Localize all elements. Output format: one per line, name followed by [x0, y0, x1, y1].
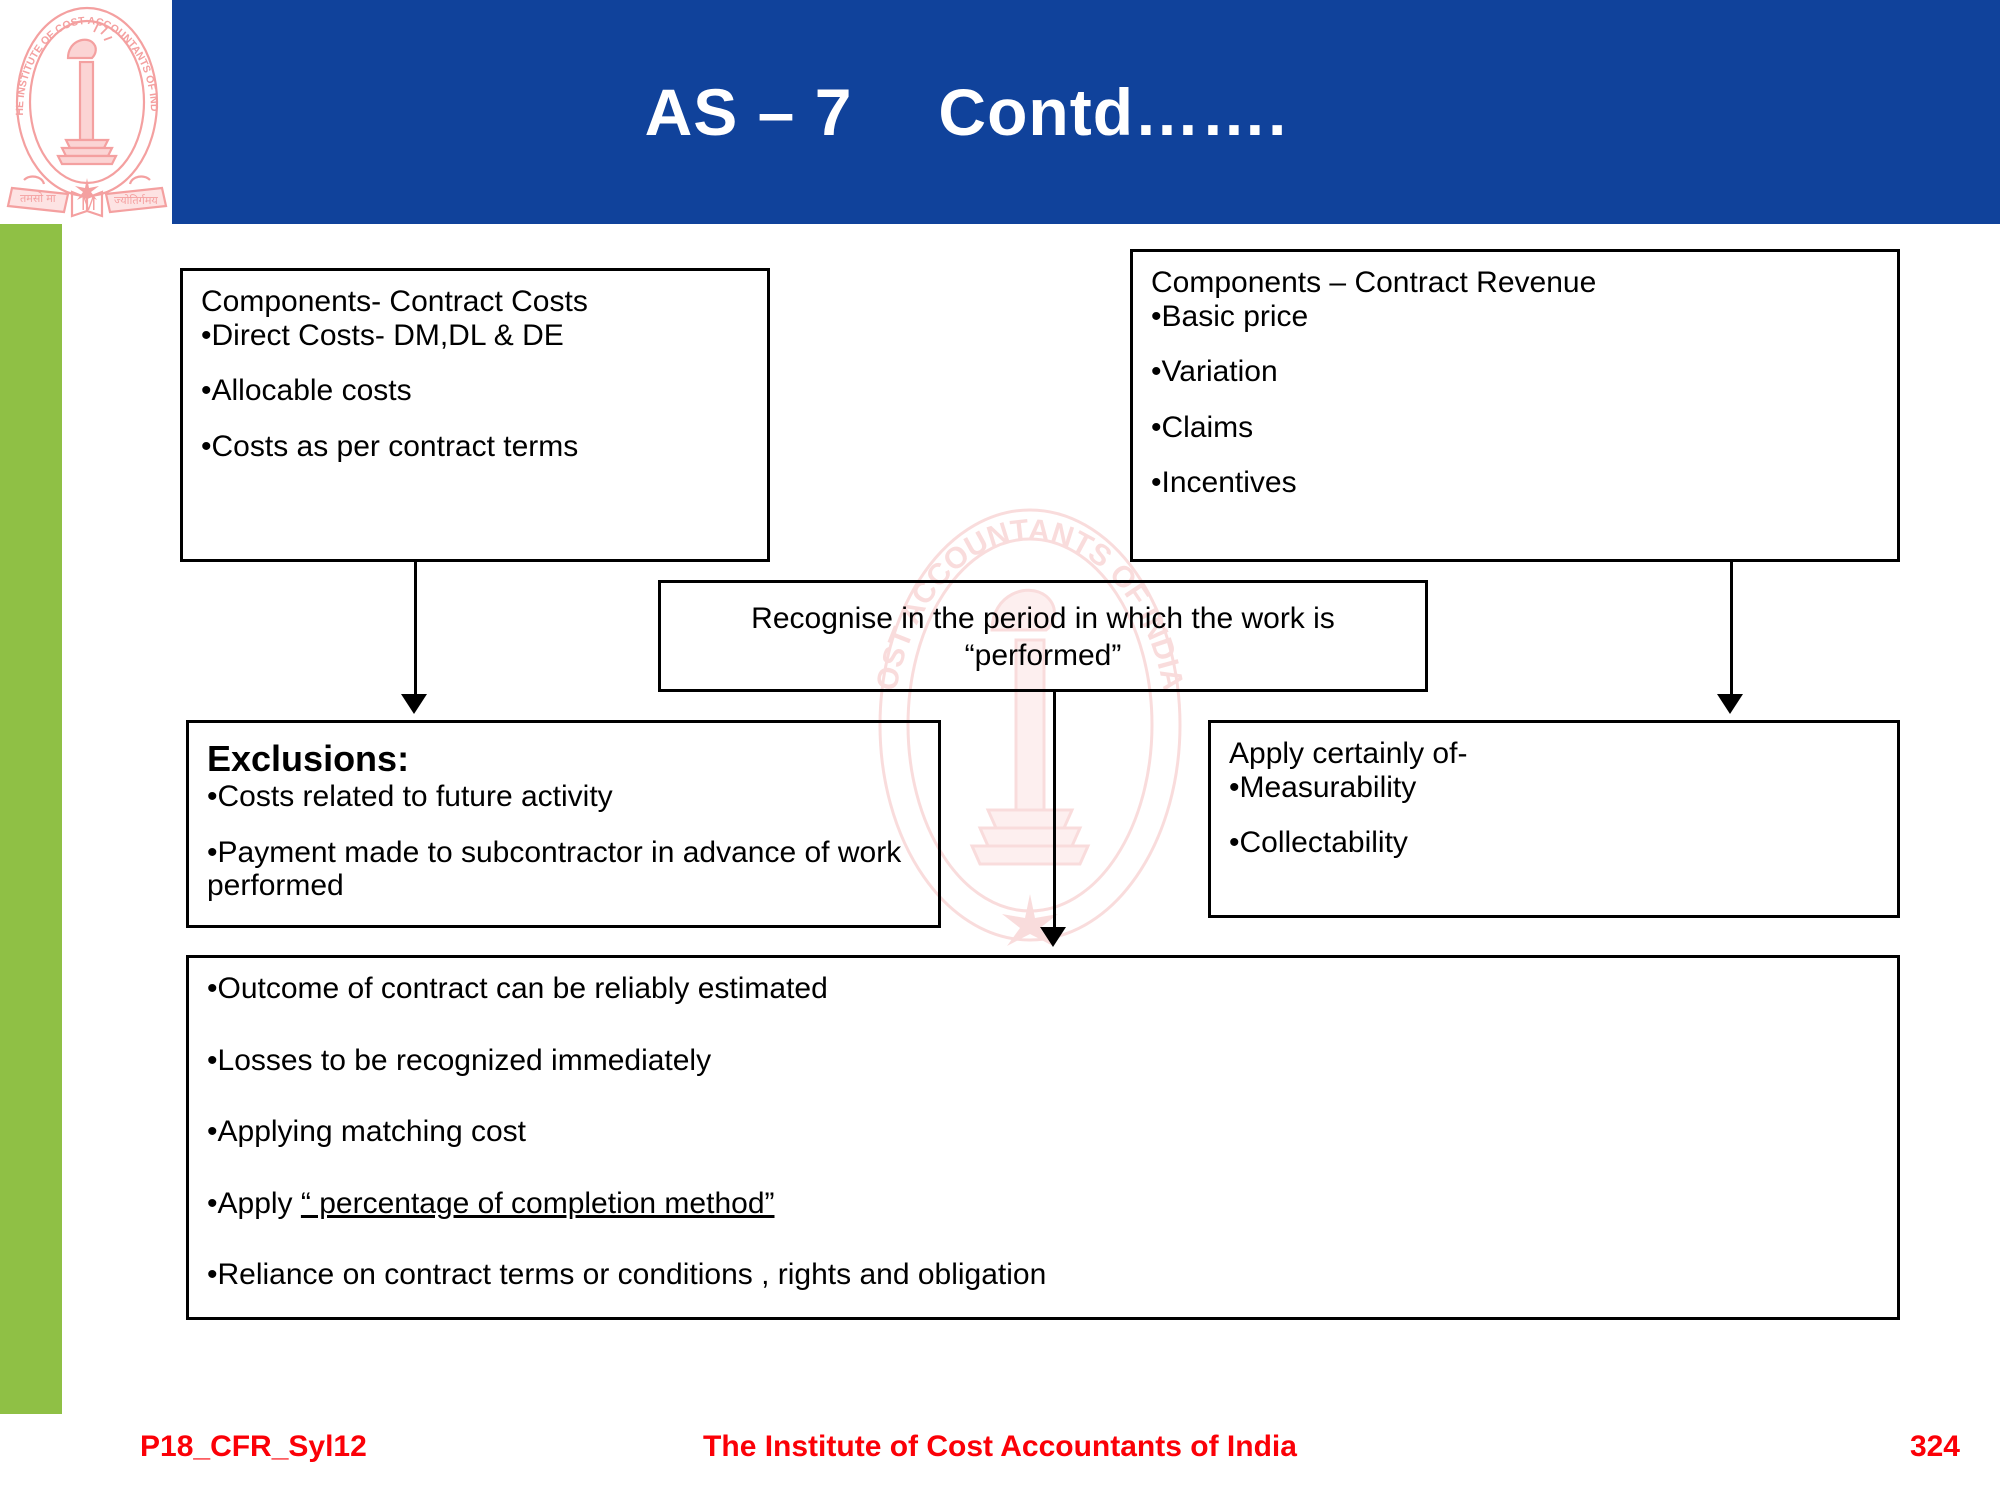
page-title-suffix: Contd…….	[938, 74, 1287, 150]
spacer	[207, 1077, 1879, 1115]
apply-certainly-item-1: •Collectability	[1229, 826, 1879, 860]
spacer	[201, 408, 749, 430]
institute-logo-icon: . तमसो मा ज्योतिर्गमय M THE INSTITUTE OF…	[6, 2, 168, 220]
logo-area: . तमसो मा ज्योतिर्गमय M THE INSTITUTE OF…	[0, 0, 172, 224]
contract-revenue-item-3: •Incentives	[1151, 466, 1879, 500]
spacer	[207, 814, 920, 836]
spacer	[207, 1149, 1879, 1187]
page-title: AS – 7 Contd…….	[172, 0, 2000, 224]
spacer	[201, 352, 749, 374]
outcome-item-0: •Outcome of contract can be reliably est…	[207, 972, 1879, 1006]
recognise-line-1: Recognise in the period in which the wor…	[681, 601, 1405, 638]
footer-institute-name: The Institute of Cost Accountants of Ind…	[0, 1430, 2000, 1464]
box-outcome-conditions: •Outcome of contract can be reliably est…	[186, 955, 1900, 1320]
exclusions-item-1: •Payment made to subcontractor in advanc…	[207, 836, 920, 903]
box-recognise-period: Recognise in the period in which the wor…	[658, 580, 1428, 692]
contract-revenue-item-0: •Basic price	[1151, 300, 1879, 334]
spacer	[207, 1220, 1879, 1258]
contract-revenue-heading: Components – Contract Revenue	[1151, 266, 1879, 300]
svg-text:M: M	[81, 194, 96, 214]
header-band: AS – 7 Contd…….	[172, 0, 2000, 224]
contract-revenue-item-2: •Claims	[1151, 411, 1879, 445]
outcome-item-1: •Losses to be recognized immediately	[207, 1044, 1879, 1078]
page-title-main: AS – 7	[645, 74, 853, 150]
outcome-item-2: •Applying matching cost	[207, 1115, 1879, 1149]
outcome-item-3: •Reliance on contract terms or condition…	[207, 1258, 1879, 1292]
footer: P18_CFR_Syl12 The Institute of Cost Acco…	[0, 1414, 2000, 1500]
contract-revenue-item-1: •Variation	[1151, 355, 1879, 389]
apply-certainly-item-0: •Measurability	[1229, 771, 1879, 805]
outcome-item-apply: •Apply “ percentage of completion method…	[207, 1187, 1879, 1221]
contract-costs-item-1: •Allocable costs	[201, 374, 749, 408]
svg-text:ज्योतिर्गमय: ज्योतिर्गमय	[114, 194, 158, 207]
recognise-line-2: “performed”	[681, 638, 1405, 675]
exclusions-item-0: •Costs related to future activity	[207, 780, 920, 814]
box-apply-certainly-content: Apply certainly of- •Measurability •Coll…	[1211, 723, 1897, 870]
contract-costs-item-2: •Costs as per contract terms	[201, 430, 749, 464]
apply-certainly-heading: Apply certainly of-	[1229, 737, 1879, 771]
box-contract-costs-content: Components- Contract Costs •Direct Costs…	[183, 271, 767, 473]
box-contract-revenue-content: Components – Contract Revenue •Basic pri…	[1133, 252, 1897, 510]
spacer	[1151, 333, 1879, 355]
box-recognise-content: Recognise in the period in which the wor…	[661, 583, 1425, 692]
box-exclusions-content: Exclusions: •Costs related to future act…	[189, 723, 938, 913]
outcome-apply-quoted: “ percentage of completion method”	[301, 1187, 775, 1220]
box-outcome-content: •Outcome of contract can be reliably est…	[189, 958, 1897, 1302]
spacer	[1151, 389, 1879, 411]
box-apply-certainly: Apply certainly of- •Measurability •Coll…	[1208, 720, 1900, 918]
exclusions-heading: Exclusions:	[207, 737, 920, 780]
spacer	[1151, 444, 1879, 466]
left-accent-bar	[0, 224, 62, 1414]
footer-page-number: 324	[1910, 1430, 1960, 1464]
box-contract-revenue: Components – Contract Revenue •Basic pri…	[1130, 249, 1900, 562]
contract-costs-heading: Components- Contract Costs	[201, 285, 749, 319]
svg-text:तमसो मा: तमसो मा	[20, 192, 56, 205]
contract-costs-item-0: •Direct Costs- DM,DL & DE	[201, 319, 749, 353]
outcome-apply-prefix: •Apply	[207, 1187, 301, 1220]
box-contract-costs: Components- Contract Costs •Direct Costs…	[180, 268, 770, 562]
box-exclusions: Exclusions: •Costs related to future act…	[186, 720, 941, 928]
spacer	[207, 1006, 1879, 1044]
spacer	[1229, 804, 1879, 826]
